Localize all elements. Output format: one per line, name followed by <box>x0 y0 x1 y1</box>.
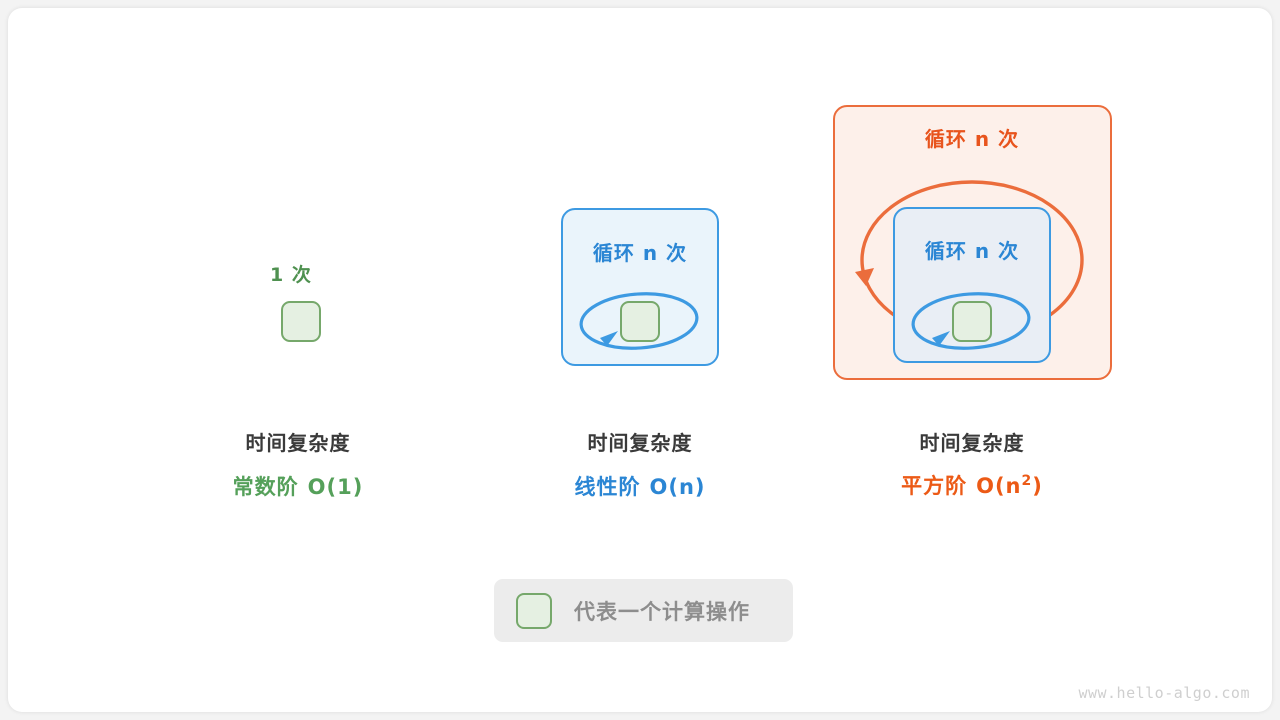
constant-order-name: 常数阶 <box>233 475 299 499</box>
quadratic-order-name: 平方阶 <box>901 474 967 498</box>
quadratic-caption-title: 时间复杂度 <box>802 427 1142 456</box>
quadratic-order-notation-pre: O(n <box>976 474 1021 498</box>
constant-order-notation: O(1) <box>308 475 364 499</box>
constant-caption-title: 时间复杂度 <box>128 427 468 456</box>
quadratic-outer-loop-label: 循环 n 次 <box>862 123 1082 152</box>
column-quadratic: 循环 n 次 循环 n 次 时间复杂度 平方阶O(n2) <box>802 0 1142 720</box>
linear-loop-label: 循环 n 次 <box>580 237 700 266</box>
operation-box <box>620 301 660 342</box>
operation-box-icon <box>516 593 552 629</box>
quadratic-order-exponent: 2 <box>1022 473 1033 489</box>
linear-order-notation: O(n) <box>650 475 706 499</box>
legend-label: 代表一个计算操作 <box>574 596 750 626</box>
linear-caption-value: 线性阶O(n) <box>470 471 810 501</box>
linear-order-name: 线性阶 <box>575 475 641 499</box>
diagram-canvas: 1 次 时间复杂度 常数阶O(1) 循环 n 次 时间复杂度 线性阶O(n) 循… <box>0 0 1280 720</box>
constant-count-label: 1 次 <box>270 260 312 287</box>
constant-caption-value: 常数阶O(1) <box>128 471 468 501</box>
quadratic-caption-value: 平方阶O(n2) <box>802 470 1142 500</box>
operation-box <box>281 301 321 342</box>
operation-box <box>952 301 992 342</box>
watermark: www.hello-algo.com <box>1078 684 1250 702</box>
quadratic-inner-loop-label: 循环 n 次 <box>912 235 1032 264</box>
column-constant: 1 次 时间复杂度 常数阶O(1) <box>128 0 468 720</box>
quadratic-order-notation-post: ) <box>1032 474 1043 498</box>
linear-caption-title: 时间复杂度 <box>470 427 810 456</box>
legend-box: 代表一个计算操作 <box>494 579 793 642</box>
